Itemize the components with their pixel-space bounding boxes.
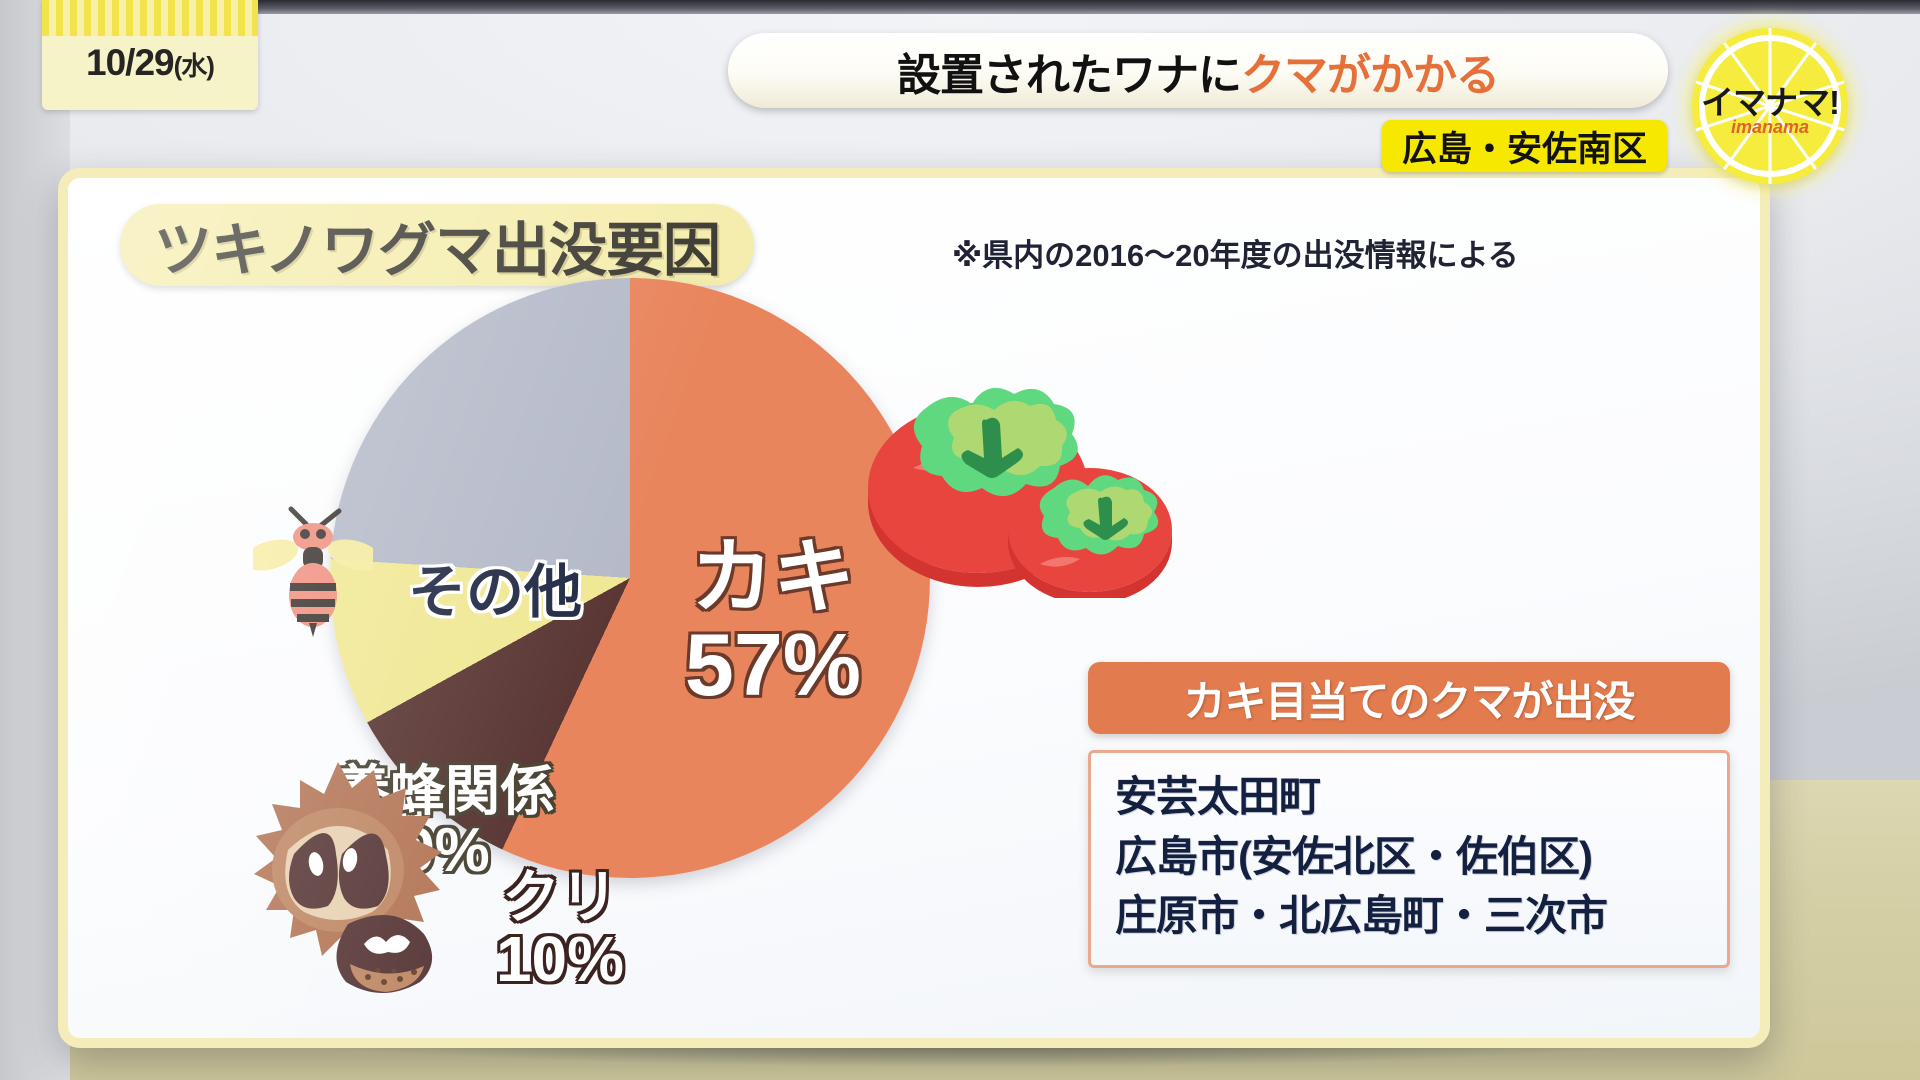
location-badge: 広島・安佐南区 [1382,120,1667,172]
info-banner-text: カキ目当てのクマが出没 [1183,668,1634,729]
pie-label-other: その他 [365,563,625,622]
studio-top-strip [250,0,1920,14]
headline-part1: 設置されたワナに [897,51,1241,100]
affected-areas-box: 安芸太田町 広島市(安佐北区・佐伯区) 庄原市・北広島町・三次市 [1088,750,1730,968]
headline-pill: 設置されたワナにクマがかかる [728,33,1668,108]
pie-value-chestnut: 10% [460,927,660,992]
pie-value-kaki: 57% [648,620,898,710]
date-badge-text: 10/29(水) [42,42,258,84]
date-weekday: (水) [174,51,214,81]
chart-source-note: ※県内の2016〜20年度の出没情報による [952,230,1519,275]
chart-title-text: ツキノワグマ出没要因 [154,203,720,287]
bee-illustration [253,503,373,638]
affected-area-line: 庄原市・北広島町・三次市 [1115,886,1703,946]
program-logo: イマナマ! imanama [1692,28,1848,184]
info-banner: カキ目当てのクマが出没 [1088,662,1730,734]
chart-panel: ツキノワグマ出没要因 ※県内の2016〜20年度の出没情報による その他 カキ … [58,168,1770,1048]
chestnut-illustration [228,758,458,998]
date-value: 10/29 [86,42,174,83]
pie-label-chestnut: クリ 10% [460,868,660,992]
affected-area-line: 安芸太田町 [1115,767,1703,827]
persimmon-illustration [858,348,1188,598]
location-badge-text: 広島・安佐南区 [1402,121,1647,172]
chart-title-pill: ツキノワグマ出没要因 [120,204,754,286]
logo-subtitle: imanama [1692,117,1848,138]
headline-text: 設置されたワナにクマがかかる [897,39,1499,103]
date-badge-stripes [42,0,258,36]
broadcast-stage: ツキノワグマ出没要因 ※県内の2016〜20年度の出没情報による その他 カキ … [0,0,1920,1080]
headline-part2: クマがかかる [1241,51,1499,100]
affected-area-line: 広島市(安佐北区・佐伯区) [1115,827,1703,887]
date-badge: 10/29(水) [42,0,258,110]
